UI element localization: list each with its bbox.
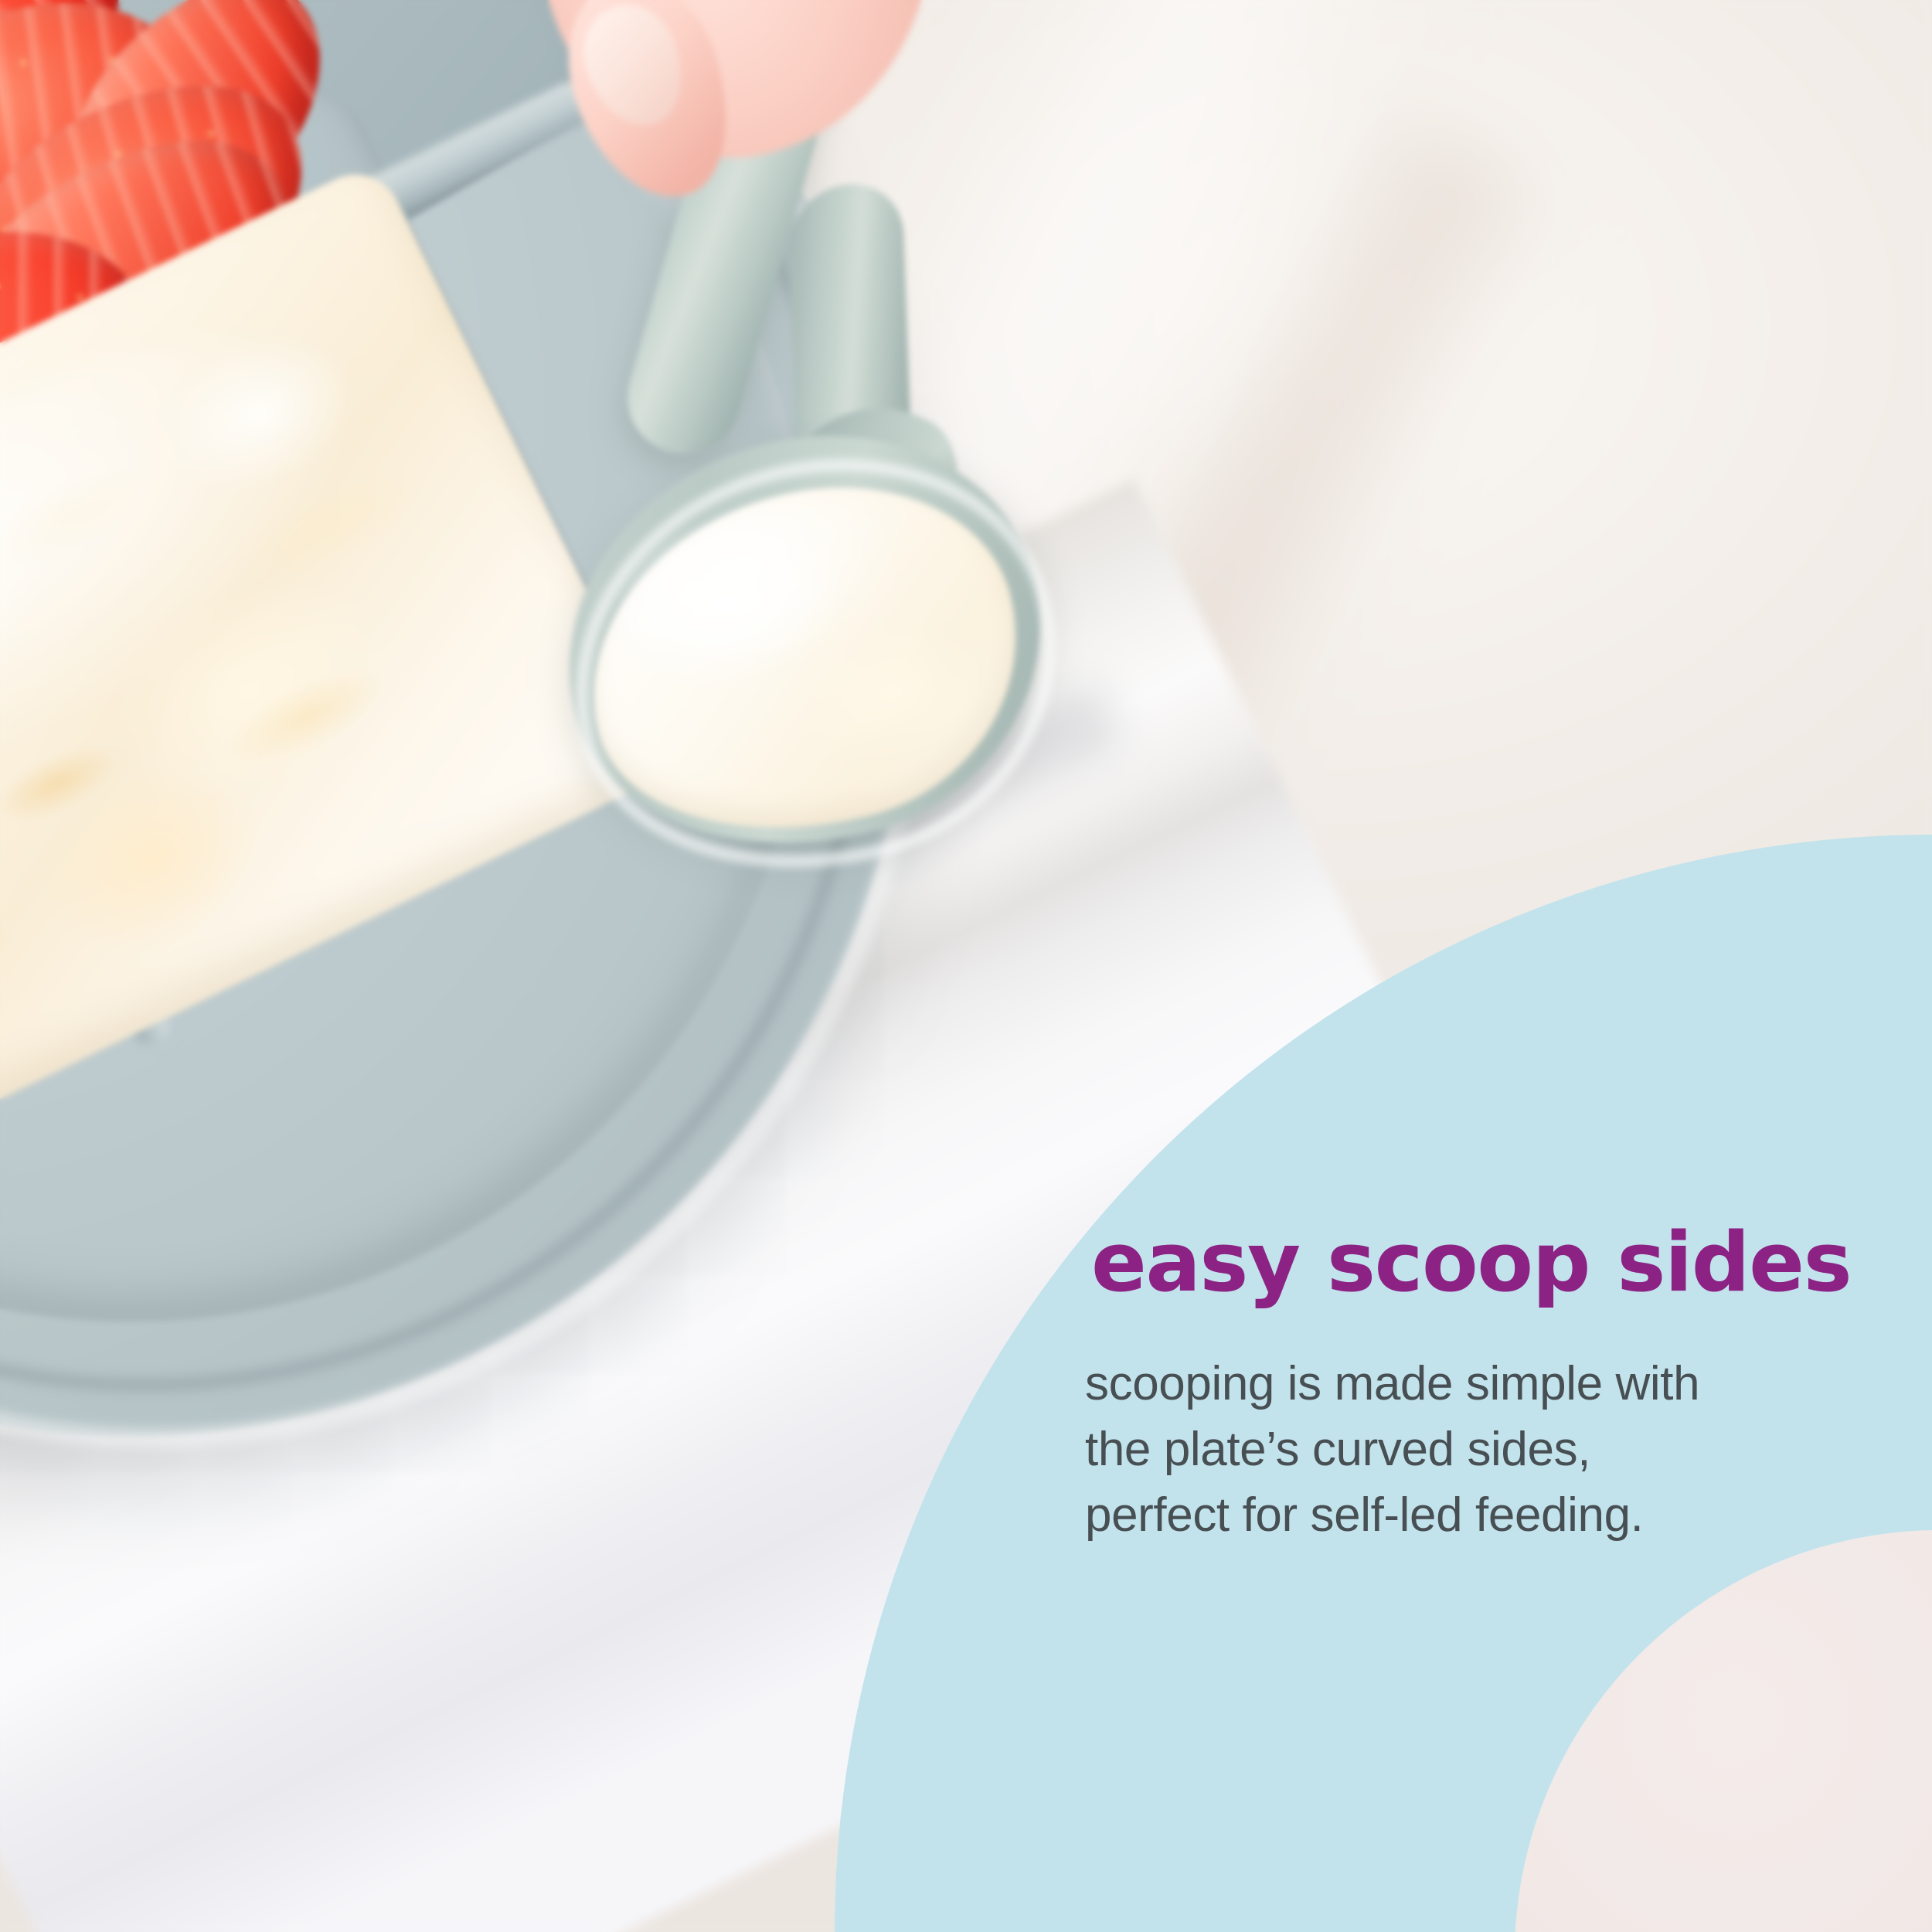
caption-body: scooping is made simple with the plate’s… bbox=[1085, 1351, 1904, 1548]
promo-image-canvas: easy scoop sides scooping is made simple… bbox=[0, 0, 1932, 1932]
caption-body-line-1: scooping is made simple with bbox=[1085, 1351, 1904, 1417]
caption-body-line-2: the plate’s curved sides, bbox=[1085, 1417, 1904, 1482]
caption-body-line-3: perfect for self-led feeding. bbox=[1085, 1482, 1904, 1548]
caption-headline: easy scoop sides bbox=[1091, 1219, 1910, 1306]
